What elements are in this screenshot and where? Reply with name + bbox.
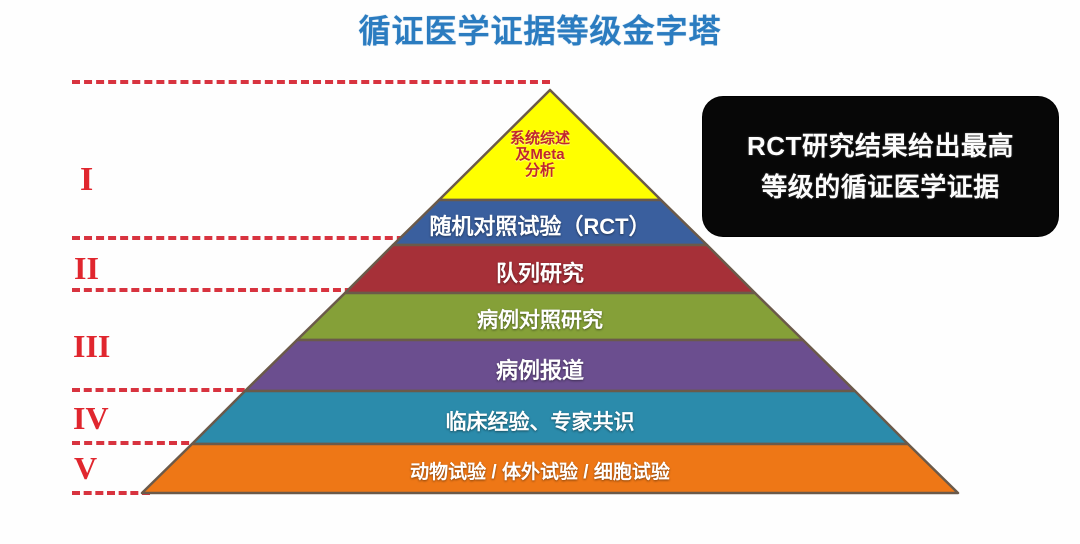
evidence-pyramid xyxy=(0,0,1080,544)
callout-line-1: RCT研究结果给出最高 xyxy=(747,126,1014,166)
callout-box: RCT研究结果给出最高 等级的循证医学证据 xyxy=(703,97,1058,236)
pyramid-layer-2 xyxy=(393,200,707,245)
pyramid-layer-6 xyxy=(192,391,908,444)
pyramid-layer-7 xyxy=(142,444,958,493)
pyramid-layer-3 xyxy=(345,245,755,293)
pyramid-layer-4 xyxy=(297,293,803,340)
callout-line-2: 等级的循证医学证据 xyxy=(761,167,1000,207)
pyramid-layer-1 xyxy=(439,90,661,200)
pyramid-layer-5 xyxy=(245,340,855,391)
pyramid-diagram: 循证医学证据等级金字塔 I II III IV V 系统综述 及Meta 分析 … xyxy=(0,0,1080,544)
